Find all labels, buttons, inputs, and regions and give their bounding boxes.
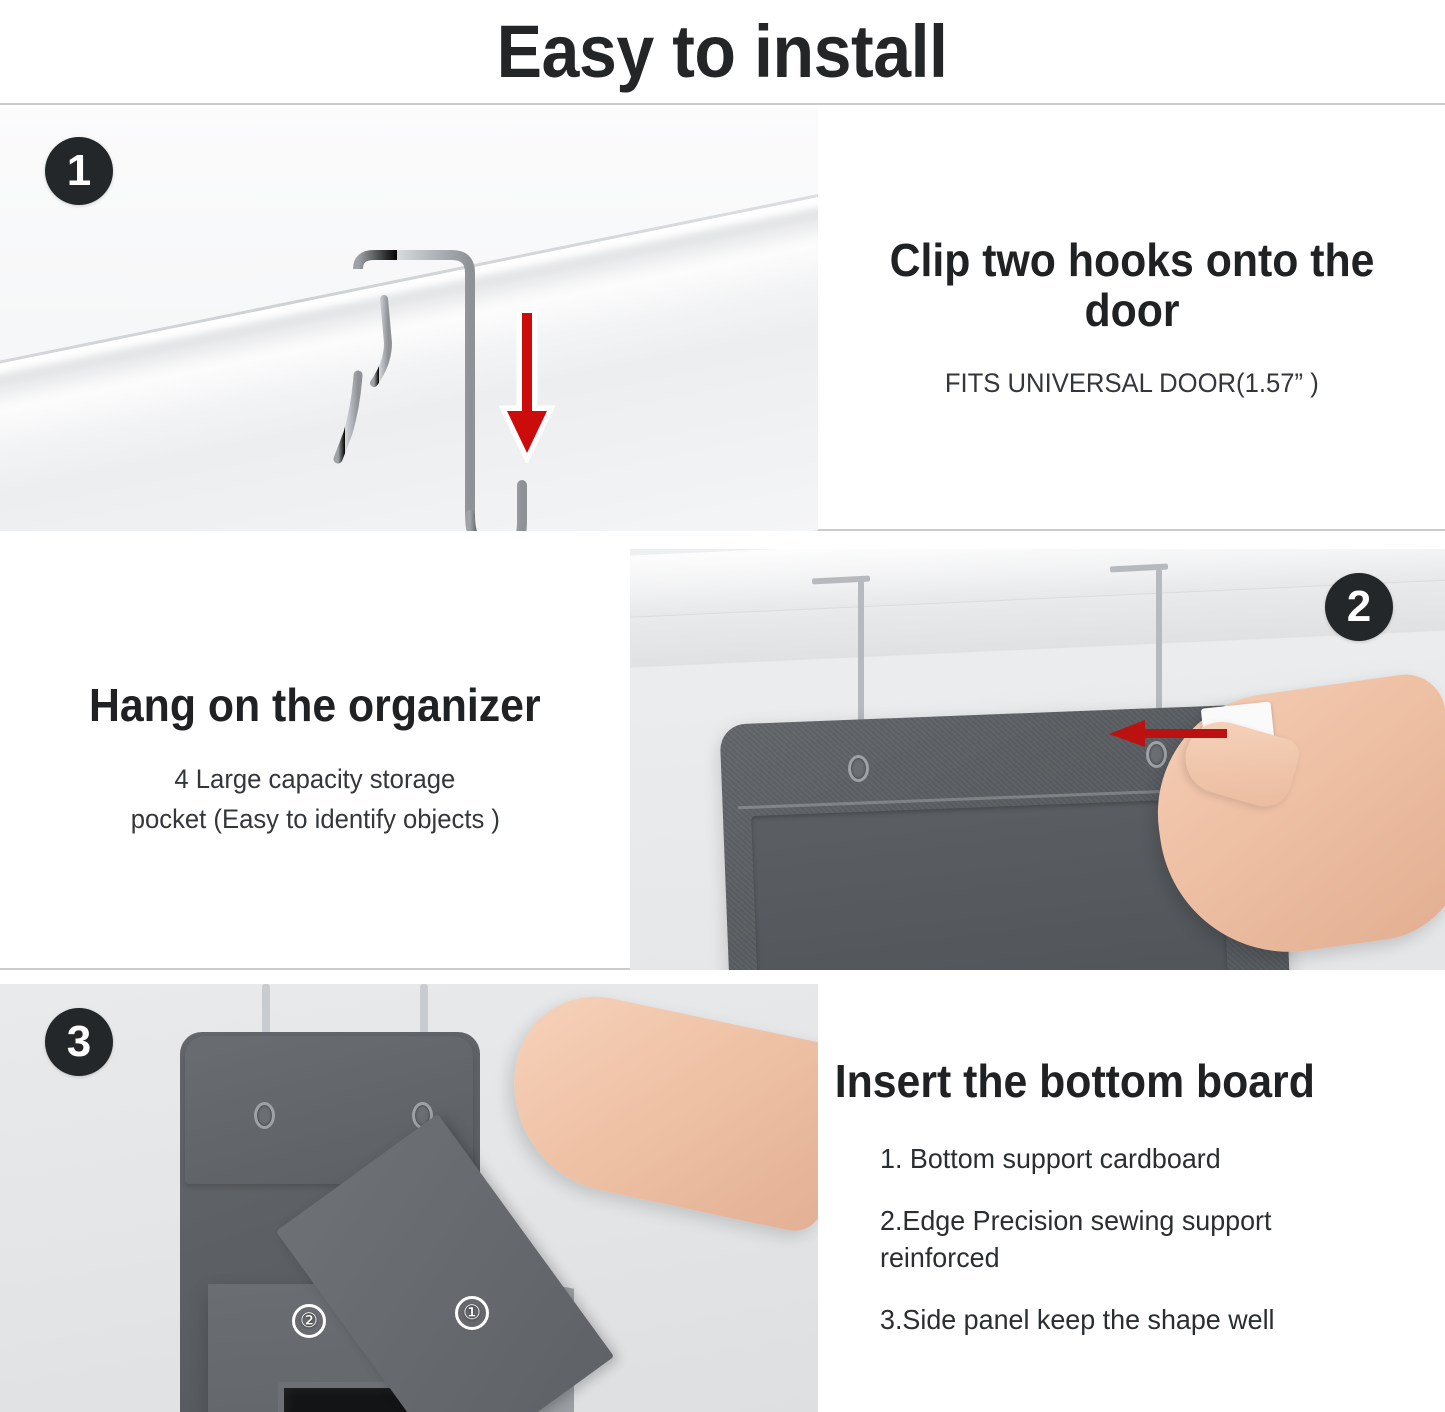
callout-1: ① <box>455 1296 489 1330</box>
hook-b-shank <box>1156 569 1162 717</box>
grommet-left <box>254 1102 275 1129</box>
step-3-title: Insert the bottom board <box>818 1057 1315 1107</box>
grommet-left <box>848 755 869 782</box>
bullet-item: 3.Side panel keep the shape well <box>880 1302 1422 1338</box>
callout-2: ② <box>292 1304 326 1338</box>
step-1-panel: 1 Clip two hooks onto the door FITS UNIV… <box>0 107 1445 531</box>
step-3-text: Insert the bottom board 1. Bottom suppor… <box>818 984 1445 1412</box>
organizer-front-pocket <box>751 798 1229 970</box>
hook-a-shank <box>858 581 864 729</box>
step-2-panel: Hang on the organizer 4 Large capacity s… <box>0 549 1445 970</box>
bullet-item: 2.Edge Precision sewing support reinforc… <box>880 1203 1360 1276</box>
red-left-arrow-icon <box>1105 717 1230 751</box>
step-2-title: Hang on the organizer <box>89 681 541 731</box>
step-3-photo: ① ② ③ ③ 3 <box>0 984 818 1412</box>
bullet-item: 1. Bottom support cardboard <box>880 1141 1422 1177</box>
step-2-subtitle-block: 4 Large capacity storage pocket (Easy to… <box>121 761 510 838</box>
step-1-badge: 1 <box>45 137 113 205</box>
step-1-photo: 1 <box>0 107 818 531</box>
step-2-subtitle-line-1: 4 Large capacity storage <box>175 761 456 797</box>
step-1-subtitle-block: FITS UNIVERSAL DOOR(1.57” ) <box>935 365 1329 401</box>
step-2-photo: 2 <box>630 549 1445 970</box>
red-down-arrow-icon <box>496 311 558 463</box>
step-1-text: Clip two hooks onto the door FITS UNIVER… <box>818 107 1445 531</box>
step-3-panel: ① ② ③ ③ 3 Insert the bottom board 1. Bot… <box>0 984 1445 1412</box>
step-1-title: Clip two hooks onto the door <box>871 236 1392 335</box>
step-3-bullet-list: 1. Bottom support cardboard 2.Edge Preci… <box>818 1141 1445 1339</box>
step-1-subtitle: FITS UNIVERSAL DOOR(1.57” ) <box>945 365 1319 401</box>
step-2-text: Hang on the organizer 4 Large capacity s… <box>0 549 630 970</box>
hand-illustration <box>494 984 818 1236</box>
step-2-subtitle-line-2: pocket (Easy to identify objects ) <box>130 801 499 837</box>
step-2-badge: 2 <box>1325 573 1393 641</box>
step-3-badge: 3 <box>45 1008 113 1076</box>
page-header: Easy to install <box>0 0 1445 105</box>
infographic-page: Easy to install <box>0 0 1445 1412</box>
page-title: Easy to install <box>497 15 948 89</box>
